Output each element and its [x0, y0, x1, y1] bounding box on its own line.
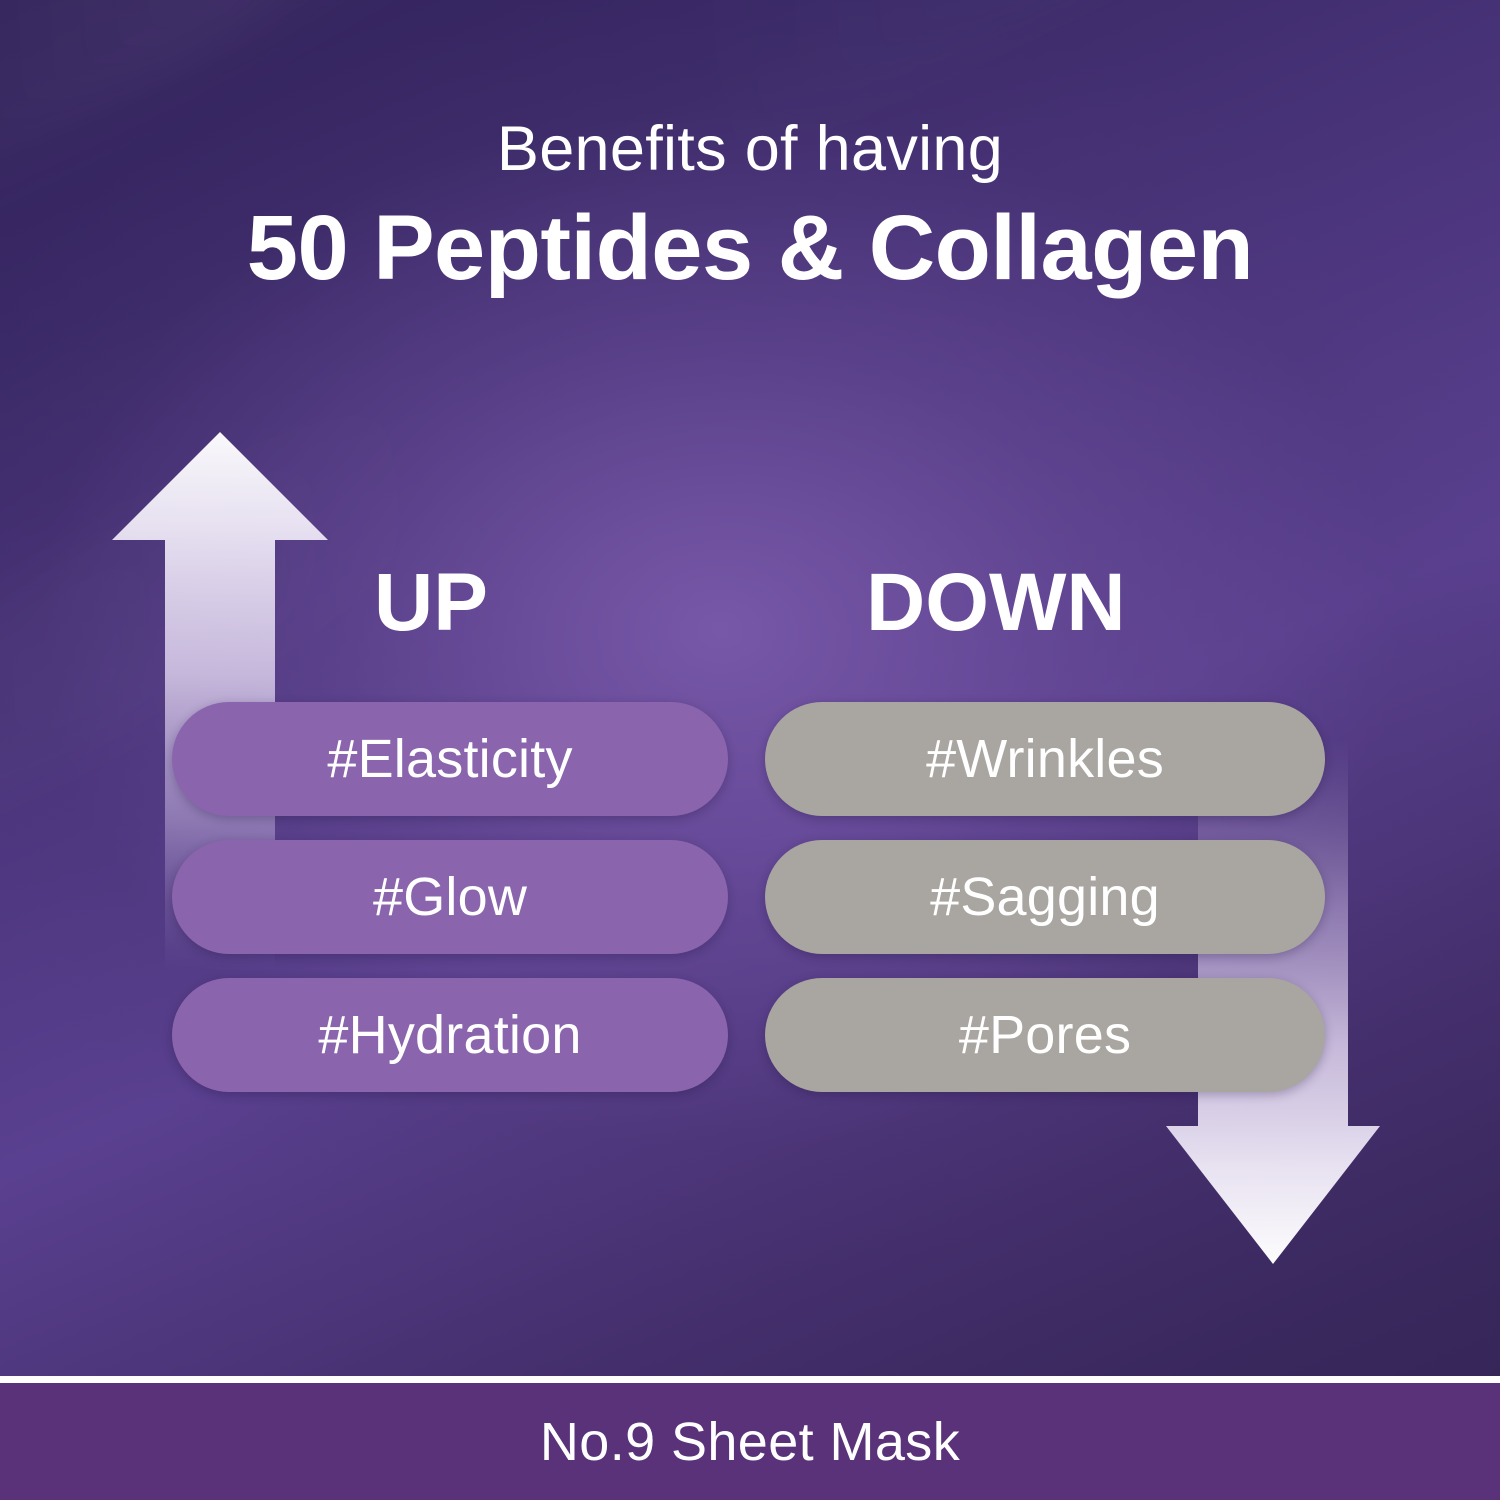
column-caption-down: DOWN	[866, 562, 1126, 644]
heading-block: Benefits of having 50 Peptides & Collage…	[0, 118, 1500, 300]
benefit-pill: #Pores	[765, 978, 1325, 1092]
footer-divider	[0, 1376, 1500, 1383]
benefit-pill: #Wrinkles	[765, 702, 1325, 816]
benefit-list-down: #Wrinkles #Sagging #Pores	[765, 702, 1325, 1092]
heading-title: 50 Peptides & Collagen	[0, 197, 1500, 300]
benefit-pill: #Glow	[172, 840, 728, 954]
column-caption-up: UP	[374, 562, 488, 644]
footer-bar: No.9 Sheet Mask	[0, 1383, 1500, 1500]
benefit-pill: #Elasticity	[172, 702, 728, 816]
infographic-canvas: Benefits of having 50 Peptides & Collage…	[0, 0, 1500, 1500]
footer-product-name: No.9 Sheet Mask	[540, 1411, 960, 1473]
benefit-list-up: #Elasticity #Glow #Hydration	[172, 702, 728, 1092]
benefit-pill: #Sagging	[765, 840, 1325, 954]
heading-subtitle: Benefits of having	[0, 118, 1500, 181]
benefit-pill: #Hydration	[172, 978, 728, 1092]
